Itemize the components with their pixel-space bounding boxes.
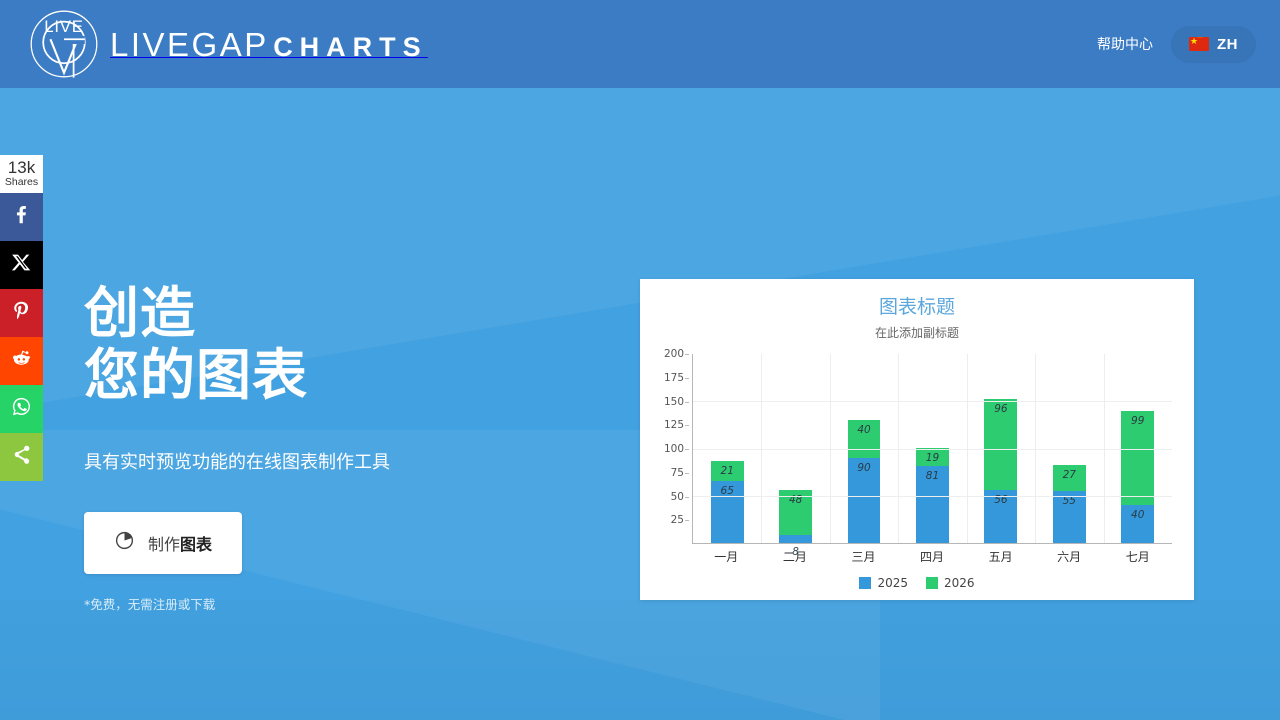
header-actions: 帮助中心 ZH bbox=[1097, 26, 1256, 63]
share-twitter-x-button[interactable] bbox=[0, 241, 43, 289]
bar-value-label: 90 bbox=[848, 462, 881, 474]
y-tick-label: 150 bbox=[664, 396, 684, 408]
bar-segment-2026[interactable]: 19 bbox=[916, 448, 949, 466]
whatsapp-icon bbox=[11, 396, 32, 422]
bar-value-label: 21 bbox=[711, 465, 744, 477]
language-selector[interactable]: ZH bbox=[1171, 26, 1256, 63]
x-axis-label: 七月 bbox=[1103, 548, 1172, 565]
bar-value-label: 81 bbox=[916, 470, 949, 482]
legend-item-2025[interactable]: 2025 bbox=[859, 576, 908, 590]
bar-value-label: 99 bbox=[1121, 415, 1154, 427]
help-center-link[interactable]: 帮助中心 bbox=[1097, 34, 1153, 54]
hero-section: 创造 您的图表 具有实时预览功能的在线图表制作工具 制作图表 *免费，无需注册或… bbox=[84, 282, 584, 613]
brand-logo-link[interactable]: LIVE LIVEGAP CHARTS bbox=[24, 4, 428, 84]
x-axis-label: 一月 bbox=[692, 548, 761, 565]
free-note: *免费，无需注册或下载 bbox=[84, 594, 584, 613]
chart-preview-card[interactable]: 图表标题 在此添加副标题 255075100125150175200 21654… bbox=[640, 279, 1194, 600]
brand-name-primary: LIVEGAP bbox=[110, 26, 269, 63]
make-chart-button[interactable]: 制作图表 bbox=[84, 512, 242, 574]
legend-swatch bbox=[926, 577, 938, 589]
facebook-icon bbox=[11, 204, 32, 230]
brand-wordmark: LIVEGAP CHARTS bbox=[110, 28, 428, 61]
bar-segment-2026[interactable]: 40 bbox=[848, 420, 881, 458]
gridline-vertical bbox=[1035, 354, 1036, 543]
livegap-logo-icon: LIVE bbox=[24, 4, 104, 84]
chart-legend: 20252026 bbox=[640, 576, 1194, 590]
y-tick-label: 100 bbox=[664, 443, 684, 455]
hero-subtitle: 具有实时预览功能的在线图表制作工具 bbox=[84, 448, 584, 474]
x-axis-label: 五月 bbox=[966, 548, 1035, 565]
share-reddit-button[interactable] bbox=[0, 337, 43, 385]
share-icon bbox=[11, 444, 32, 470]
make-chart-label-prefix: 制作 bbox=[148, 535, 180, 554]
x-axis-label: 四月 bbox=[898, 548, 967, 565]
y-axis: 255075100125150175200 bbox=[654, 354, 688, 544]
gridline-vertical bbox=[761, 354, 762, 543]
bar-stack[interactable]: 488 bbox=[779, 490, 812, 543]
chart-plot-wrapper: 255075100125150175200 216548840901981965… bbox=[654, 354, 1172, 544]
legend-label: 2026 bbox=[944, 576, 975, 590]
chart-subtitle[interactable]: 在此添加副标题 bbox=[640, 324, 1194, 341]
legend-item-2026[interactable]: 2026 bbox=[926, 576, 975, 590]
y-tick-label: 25 bbox=[671, 514, 684, 526]
share-whatsapp-button[interactable] bbox=[0, 385, 43, 433]
share-count-label: Shares bbox=[0, 177, 43, 188]
y-tick-label: 50 bbox=[671, 491, 684, 503]
site-header: LIVE LIVEGAP CHARTS 帮助中心 ZH bbox=[0, 0, 1280, 88]
bar-stack[interactable]: 9656 bbox=[984, 399, 1017, 543]
pinterest-icon bbox=[11, 300, 32, 326]
bar-value-label: 40 bbox=[1121, 509, 1154, 521]
bar-segment-2025[interactable]: 65 bbox=[711, 481, 744, 543]
chart-title[interactable]: 图表标题 bbox=[640, 279, 1194, 319]
hero-title-line1: 创造 bbox=[84, 281, 196, 345]
gridline-vertical bbox=[967, 354, 968, 543]
y-tick-label: 200 bbox=[664, 348, 684, 360]
y-tick-label: 125 bbox=[664, 419, 684, 431]
x-axis-labels: 一月二月三月四月五月六月七月 bbox=[692, 548, 1172, 565]
legend-swatch bbox=[859, 577, 871, 589]
bar-segment-2026[interactable]: 27 bbox=[1053, 465, 1086, 491]
make-chart-label: 制作图表 bbox=[148, 531, 212, 555]
brand-name-secondary: CHARTS bbox=[273, 32, 428, 62]
bar-stack[interactable]: 4090 bbox=[848, 420, 881, 544]
reddit-icon bbox=[11, 348, 32, 374]
bar-value-label: 19 bbox=[916, 452, 949, 464]
gridline-vertical bbox=[830, 354, 831, 543]
background-bottom-shade bbox=[0, 600, 1280, 720]
share-more-button[interactable] bbox=[0, 433, 43, 481]
bar-segment-2025[interactable]: 8 bbox=[779, 535, 812, 543]
legend-label: 2025 bbox=[877, 576, 908, 590]
gridline-vertical bbox=[1104, 354, 1105, 543]
bar-value-label: 96 bbox=[984, 403, 1017, 415]
bar-stack[interactable]: 2165 bbox=[711, 461, 744, 543]
pie-chart-icon bbox=[114, 530, 135, 556]
bar-segment-2025[interactable]: 81 bbox=[916, 466, 949, 543]
twitter-x-icon bbox=[11, 252, 32, 278]
bar-segment-2025[interactable]: 40 bbox=[1121, 505, 1154, 543]
bar-segment-2026[interactable]: 96 bbox=[984, 399, 1017, 490]
flag-cn-icon bbox=[1189, 37, 1209, 51]
social-share-rail: 13k Shares bbox=[0, 155, 43, 481]
bar-stack[interactable]: 2755 bbox=[1053, 465, 1086, 543]
y-tick-label: 175 bbox=[664, 372, 684, 384]
language-code: ZH bbox=[1217, 36, 1238, 53]
x-axis-label: 六月 bbox=[1035, 548, 1104, 565]
plot-area: 216548840901981965627559940 bbox=[692, 354, 1172, 544]
share-pinterest-button[interactable] bbox=[0, 289, 43, 337]
gridline-horizontal bbox=[693, 401, 1172, 402]
gridline-horizontal bbox=[693, 449, 1172, 450]
bar-segment-2025[interactable]: 56 bbox=[984, 490, 1017, 543]
bar-value-label: 40 bbox=[848, 424, 881, 436]
bar-value-label: 8 bbox=[779, 546, 812, 558]
bar-segment-2026[interactable]: 99 bbox=[1121, 411, 1154, 505]
bar-segment-2025[interactable]: 90 bbox=[848, 458, 881, 544]
gridline-horizontal bbox=[693, 496, 1172, 497]
bar-stack[interactable]: 9940 bbox=[1121, 411, 1154, 543]
bar-segment-2026[interactable]: 21 bbox=[711, 461, 744, 481]
gridline-vertical bbox=[898, 354, 899, 543]
bar-segment-2025[interactable]: 55 bbox=[1053, 491, 1086, 543]
share-count-number: 13k bbox=[0, 159, 43, 177]
bar-value-label: 27 bbox=[1053, 469, 1086, 481]
x-axis-label: 三月 bbox=[829, 548, 898, 565]
hero-title-line2: 您的图表 bbox=[84, 343, 308, 407]
y-tick-label: 75 bbox=[671, 467, 684, 479]
share-count: 13k Shares bbox=[0, 155, 43, 193]
share-facebook-button[interactable] bbox=[0, 193, 43, 241]
make-chart-label-bold: 图表 bbox=[180, 535, 212, 554]
page-title: 创造 您的图表 bbox=[84, 282, 584, 406]
